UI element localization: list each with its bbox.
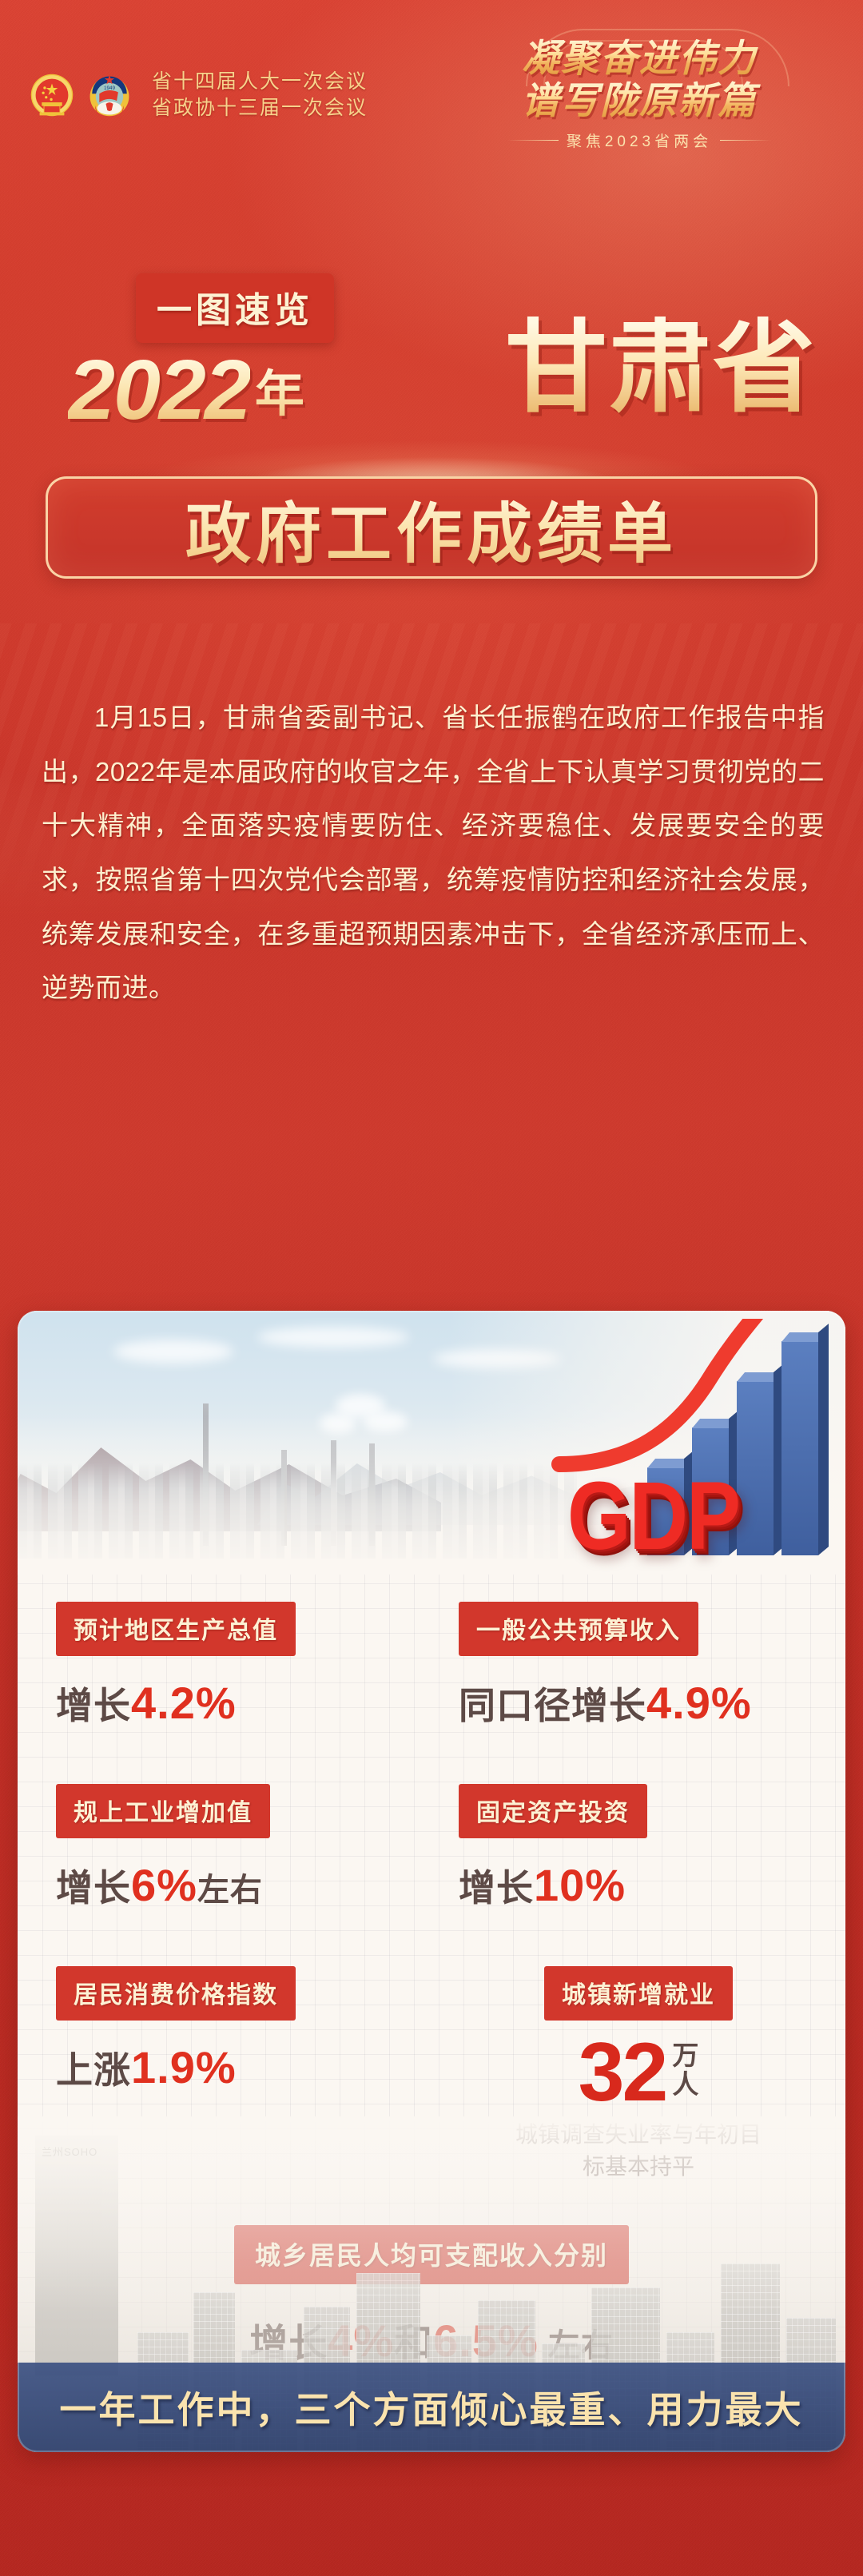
stats-card: GDP 预计地区生产总值 增长4.2% 一般公共预算收入 同口径增长4.9% <box>18 1311 845 2452</box>
stat-value-number: 4.9% <box>646 1678 752 1728</box>
stat-cell: 一般公共预算收入 同口径增长4.9% <box>431 1575 845 1730</box>
gdp-label: GDP <box>567 1461 739 1571</box>
banner-line-2: 谱写陇原新篇 <box>439 81 839 121</box>
stat-value-suffix: 左右 <box>197 1873 263 1908</box>
stat-value-prefix: 同口径增长 <box>459 1685 646 1726</box>
employment-note: 城镇调查失业率与年初目标基本持平 <box>507 2119 770 2183</box>
employment-unit-line-2: 人 <box>672 2070 698 2099</box>
hero-title-block: 一图速览 2022 年 甘肃省 政府工作成绩单 <box>0 240 863 591</box>
income-conjunction: 和 <box>394 2323 433 2365</box>
quick-view-badge: 一图速览 <box>136 273 334 343</box>
stats-row: 规上工业增加值 增长6%左右 固定资产投资 增长10% <box>18 1757 845 1912</box>
stat-value-number: 10% <box>534 1860 626 1910</box>
stat-value: 增长10% <box>459 1859 845 1912</box>
rule-right-icon <box>720 140 771 141</box>
stat-cell: 预计地区生产总值 增长4.2% <box>18 1575 431 1730</box>
stats-rows: 预计地区生产总值 增长4.2% 一般公共预算收入 同口径增长4.9% 规上工业增… <box>18 1575 845 2367</box>
stat-value: 增长6%左右 <box>56 1859 431 1912</box>
stat-title-chip: 规上工业增加值 <box>56 1784 270 1838</box>
footer-banner-text: 一年工作中，三个方面倾心最重、用力最大 <box>60 2381 804 2434</box>
stat-value-number: 1.9% <box>131 2042 237 2092</box>
industrial-photo: GDP <box>18 1311 845 1575</box>
employment-number: 32 <box>579 2033 666 2112</box>
stat-value: 上涨1.9% <box>56 2041 431 2094</box>
stat-value-prefix: 增长 <box>56 1867 131 1909</box>
stat-value-prefix: 增长 <box>459 1867 534 1909</box>
intro-paragraph: 1月15日，甘肃省委副书记、省长任振鹤在政府工作报告中指出，2022年是本届政府… <box>42 691 825 1015</box>
stat-title-chip: 一般公共预算收入 <box>459 1602 698 1656</box>
income-number-1: 4% <box>328 2315 394 2366</box>
gdp-growth-graphic: GDP <box>535 1319 831 1575</box>
stat-value-prefix: 增长 <box>56 1685 131 1726</box>
cppcc-emblem-icon: 1949 <box>86 72 133 118</box>
banner-subtitle-row: 聚焦2023省两会 <box>439 129 839 151</box>
poster-root: 1949 省十四届人大一次会议 省政协十三届一次会议 凝聚奋进伟力 谱写陇原新篇… <box>0 0 863 2576</box>
intro-section: 1月15日，甘肃省委副书记、省长任振鹤在政府工作报告中指出，2022年是本届政府… <box>0 623 863 1071</box>
income-title-chip: 城乡居民人均可支配收入分别 <box>234 2225 629 2284</box>
meeting-titles: 省十四届人大一次会议 省政协十三届一次会议 <box>152 69 368 121</box>
income-value: 增长4%和6.5%左右 <box>18 2311 845 2367</box>
hero-subtitle-text: 政府工作成绩单 <box>185 480 678 575</box>
top-header: 1949 省十四届人大一次会议 省政协十三届一次会议 凝聚奋进伟力 谱写陇原新篇… <box>0 0 863 240</box>
employment-value: 32 万 人 <box>431 2033 845 2112</box>
stat-cell: 城镇新增就业 32 万 人 城镇调查失业率与年初目标基本持平 <box>431 1939 845 2182</box>
stat-value-number: 6% <box>131 1860 197 1910</box>
stats-row: 预计地区生产总值 增长4.2% 一般公共预算收入 同口径增长4.9% <box>18 1575 845 1730</box>
employment-unit: 万 人 <box>672 2033 698 2098</box>
hero-year-suffix: 年 <box>255 360 304 430</box>
rule-left-icon <box>507 140 559 141</box>
stat-cell: 居民消费价格指数 上涨1.9% <box>18 1939 431 2182</box>
income-stat-row: 城乡居民人均可支配收入分别 增长4%和6.5%左右 <box>18 2225 845 2367</box>
hero-year-number: 2022 <box>68 352 250 430</box>
meeting-title-line-2: 省政协十三届一次会议 <box>152 95 368 121</box>
quick-view-badge-label: 一图速览 <box>157 291 313 330</box>
income-suffix: 左右 <box>548 2328 614 2363</box>
emblem-group: 1949 省十四届人大一次会议 省政协十三届一次会议 <box>29 69 368 121</box>
hero-year-group: 2022 年 <box>68 352 304 430</box>
income-prefix: 增长 <box>249 2323 328 2365</box>
stat-title-chip: 固定资产投资 <box>459 1784 647 1838</box>
stat-value: 增长4.2% <box>56 1677 431 1730</box>
hero-subtitle-box: 政府工作成绩单 <box>46 476 817 579</box>
banner-subtitle: 聚焦2023省两会 <box>567 129 712 151</box>
stat-value-prefix: 上涨 <box>56 2049 131 2091</box>
stat-cell: 固定资产投资 增长10% <box>431 1757 845 1912</box>
national-emblem-icon <box>29 72 75 118</box>
stats-row: 居民消费价格指数 上涨1.9% 城镇新增就业 32 万 人 城镇调查失业率与年初 <box>18 1939 845 2182</box>
stat-value: 同口径增长4.9% <box>459 1677 845 1730</box>
stat-title-chip: 城镇新增就业 <box>544 1966 733 2021</box>
stat-value-number: 4.2% <box>131 1678 237 1728</box>
meeting-title-line-1: 省十四届人大一次会议 <box>152 69 368 95</box>
svg-text:1949: 1949 <box>104 86 116 91</box>
footer-banner: 一年工作中，三个方面倾心最重、用力最大 <box>18 2363 845 2452</box>
stat-title-chip: 预计地区生产总值 <box>56 1602 296 1656</box>
stat-title-chip: 居民消费价格指数 <box>56 1966 296 2021</box>
banner-line-1: 凝聚奋进伟力 <box>439 38 839 79</box>
stat-cell: 规上工业增加值 增长6%左右 <box>18 1757 431 1912</box>
campaign-banner: 凝聚奋进伟力 谱写陇原新篇 聚焦2023省两会 <box>439 38 839 151</box>
income-number-2: 6.5% <box>433 2315 539 2366</box>
hero-province-name: 甘肃省 <box>505 317 817 419</box>
employment-unit-line-1: 万 <box>672 2041 698 2070</box>
